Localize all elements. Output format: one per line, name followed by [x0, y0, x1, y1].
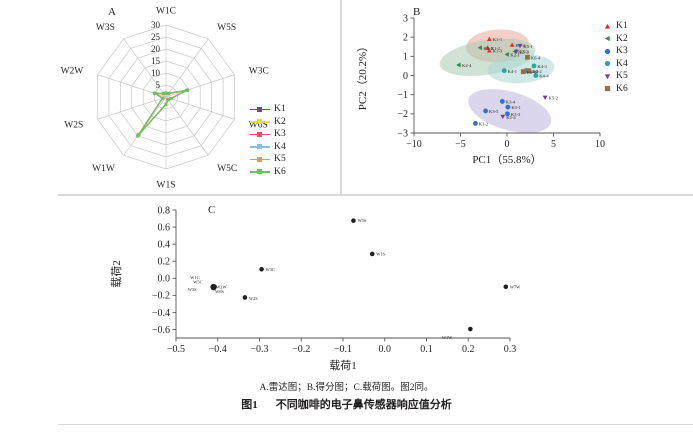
y-tick-label: −3: [397, 128, 408, 139]
y-tick-label: 1: [403, 52, 408, 63]
y-tick-label: 0.2: [158, 257, 171, 268]
radar-tick-label: 15: [151, 56, 161, 66]
radar-axis-label: W1S: [157, 180, 176, 190]
point-K3-2: [473, 121, 478, 126]
caption-note: A.雷达图；B.得分图；C.载荷图。图2同。: [0, 379, 693, 393]
point-K4-1: [502, 68, 507, 73]
legend-item-K5[interactable]: K5: [604, 70, 628, 83]
radar-point: [170, 97, 173, 100]
legend-label: K3: [616, 46, 628, 56]
radar-axis-label: W3S: [96, 23, 115, 33]
point-label-K4-4: K4-4: [539, 74, 549, 79]
y-axis-label: 载荷2: [110, 260, 123, 288]
point-label-W1S: W1S: [376, 251, 385, 256]
legend-item-K6[interactable]: K6: [250, 166, 286, 179]
x-tick-label: 0: [505, 139, 510, 150]
x-axis-label: 载荷1: [329, 359, 357, 372]
radar-point: [186, 88, 189, 91]
point-K4-3: [532, 64, 537, 69]
point-label-K6-4: K6-4: [531, 55, 541, 60]
panel-b-legend: K1K2K3K4K5K6: [604, 20, 628, 95]
legend-item-K3[interactable]: K3: [604, 45, 628, 58]
x-tick-label: −10: [406, 139, 422, 150]
y-tick-label: 0.6: [158, 222, 171, 233]
figure-root: A 51015202530W1CW5SW3CW6SW5CW1SW1WW2SW2W…: [0, 0, 693, 433]
y-tick-label: −2: [397, 109, 408, 120]
point-label-W2S: W2S: [249, 296, 258, 301]
legend-label: K1: [274, 104, 286, 114]
legend-item-K6[interactable]: K6: [604, 83, 628, 96]
panel-a-legend: K1K2K3K4K5K6: [250, 103, 286, 178]
radar-tick-label: 20: [151, 44, 161, 54]
radar-spoke: [166, 39, 208, 97]
y-tick-label: 3: [403, 13, 408, 24]
legend-label: K6: [616, 84, 628, 94]
point-label-W6S: W6S: [215, 289, 224, 294]
legend-label: K2: [274, 117, 286, 127]
radar-point: [167, 92, 170, 95]
radar-tick-labels: 51015202530: [151, 20, 161, 90]
cluster-ellipses: [437, 27, 556, 141]
x-tick-label: 0.3: [504, 344, 517, 355]
legend-glyph: [605, 86, 610, 91]
x-tick-label: −0.3: [250, 344, 268, 355]
point-label-K5-3: K5-3: [520, 50, 530, 55]
point-label-W1W: W1W: [442, 335, 453, 340]
point-label-K1-3: K1-3: [493, 49, 503, 54]
loading-plot: −0.5−0.4−0.3−0.2−0.10.00.10.20.30.80.60.…: [58, 196, 693, 374]
legend-marker-icon: [604, 73, 611, 80]
panel-c-letter: C: [208, 204, 215, 216]
y-tick-label: 0.8: [158, 205, 171, 216]
point-label-K3-4: K3-4: [506, 99, 516, 104]
point-K6-4: [525, 55, 530, 60]
pca-score-plot: −10−505103210−1−2−3PC1（55.8%）PC2（20.2%）K…: [342, 0, 693, 194]
x-tick-label: 0.1: [420, 344, 433, 355]
point-K3-5: [483, 109, 488, 114]
point-label-W3S: W3S: [188, 287, 197, 292]
legend-item-K5[interactable]: K5: [250, 153, 286, 166]
radar-point: [167, 98, 170, 101]
caption-number: 图1: [241, 399, 258, 411]
point-label-K2-4: K2-4: [462, 63, 472, 68]
legend-swatch-icon: [250, 154, 270, 164]
legend-glyph: [605, 24, 610, 29]
panel-b-letter: B: [413, 6, 420, 18]
radar-axis-label: W1C: [156, 6, 176, 16]
legend-item-K1[interactable]: K1: [604, 20, 628, 33]
y-tick-label: 2: [403, 33, 408, 44]
radar-point: [136, 135, 139, 138]
radar-point: [153, 92, 156, 95]
radar-tick-label: 25: [151, 32, 161, 42]
point-label-K5-4: K5-4: [506, 115, 516, 120]
caption-title: 图1不同咖啡的电子鼻传感器响应值分析: [0, 396, 693, 412]
legend-label: K6: [274, 167, 286, 177]
legend-item-K1[interactable]: K1: [250, 103, 286, 116]
legend-marker-icon: [604, 85, 611, 92]
y-tick-label: 0: [403, 71, 408, 82]
radar-tick-label: 30: [151, 20, 161, 30]
point-label-K2-2: K2-2: [483, 46, 493, 51]
legend-item-K2[interactable]: K2: [604, 33, 628, 46]
y-tick-label: −1: [397, 90, 408, 101]
x-tick-label: 0.2: [462, 344, 475, 355]
point-W2S: [243, 295, 248, 300]
radar-point: [161, 97, 164, 100]
point-label-K3-1: K3-1: [511, 105, 521, 110]
y-tick-label: 0.4: [158, 240, 171, 251]
point-cluster: [210, 284, 216, 290]
point-W1S: [370, 252, 375, 257]
x-tick-label: −0.5: [167, 344, 185, 355]
point-W7W: [504, 285, 509, 290]
point-label-W3C: W3C: [266, 267, 275, 272]
point-label-W5C: W5C: [193, 279, 202, 284]
x-tick-label: 5: [551, 139, 556, 150]
radar-tick-label: 5: [156, 80, 161, 90]
legend-label: K4: [274, 142, 286, 152]
legend-marker-icon: [604, 35, 611, 42]
x-axis-label: PC1（55.8%）: [472, 153, 541, 166]
legend-glyph: [605, 36, 610, 41]
point-label-K3-5: K3-5: [489, 109, 499, 114]
radar-axis-label: W5C: [217, 164, 237, 174]
point-label-K4-1: K4-1: [508, 69, 518, 74]
legend-marker-icon: [604, 60, 611, 67]
panel-b-scores: B −10−505103210−1−2−3PC1（55.8%）PC2（20.2%…: [341, 0, 693, 195]
point-label-K1-1: K1-1: [493, 37, 503, 42]
legend-swatch-icon: [250, 104, 270, 114]
legend-item-K3[interactable]: K3: [250, 128, 286, 141]
x-tick-label: −0.2: [292, 344, 310, 355]
legend-label: K4: [616, 59, 628, 69]
legend-glyph: [605, 74, 610, 79]
loading-points: W5SW1SW3CW7WW1CW5CW2WW3SW6SW2SW1W: [188, 218, 521, 340]
point-label-W7W: W7W: [510, 284, 521, 289]
y-tick-label: −0.2: [152, 291, 170, 302]
y-tick-label: −0.6: [152, 325, 170, 336]
legend-swatch-icon: [250, 142, 270, 152]
point-K3-1: [506, 105, 511, 110]
legend-item-K4[interactable]: K4: [604, 58, 628, 71]
point-W1W: [468, 327, 473, 332]
legend-label: K2: [616, 34, 628, 44]
radar-tick-label: 10: [151, 68, 161, 78]
x-tick-label: 10: [595, 139, 605, 150]
x-tick-label: −0.1: [334, 344, 352, 355]
x-tick-label: −5: [455, 139, 466, 150]
radar-grid: [98, 25, 235, 169]
point-K3-4: [500, 99, 505, 104]
radar-point: [165, 91, 168, 94]
point-W5S: [351, 218, 356, 223]
point-label-K5-2: K5-2: [549, 96, 559, 101]
panel-c-loadings: C −0.5−0.4−0.3−0.2−0.10.00.10.20.30.80.6…: [58, 195, 693, 374]
legend-label: K1: [616, 21, 628, 31]
radar-chart: 51015202530W1CW5SW3CW6SW5CW1SW1WW2SW2WW3…: [58, 0, 340, 194]
radar-axis-label: W2S: [64, 120, 83, 130]
legend-swatch-icon: [250, 167, 270, 177]
legend-swatch-icon: [250, 117, 270, 127]
legend-marker-icon: [604, 48, 611, 55]
legend-label: K5: [274, 154, 286, 164]
ellipse-K5: [463, 81, 556, 141]
legend-swatch-icon: [250, 129, 270, 139]
legend-glyph: [605, 61, 610, 66]
panel-a-letter: A: [108, 6, 116, 18]
radar-axis-label: W2W: [61, 67, 84, 77]
legend-item-K2[interactable]: K2: [250, 116, 286, 129]
y-tick-label: −0.4: [152, 308, 170, 319]
radar-point: [165, 103, 168, 106]
point-label-K3-2: K3-2: [479, 122, 489, 127]
panel-a-radar: A 51015202530W1CW5SW3CW6SW5CW1SW1WW2SW2W…: [58, 0, 341, 195]
x-tick-label: −0.4: [209, 344, 227, 355]
legend-glyph: [605, 49, 610, 54]
y-axis-label: PC2（20.2%）: [356, 41, 369, 110]
bottom-divider: [58, 424, 693, 425]
x-tick-label: 0.0: [379, 344, 392, 355]
radar-axis-label: W5S: [217, 23, 236, 33]
point-label-K5-1: K5-1: [523, 44, 533, 49]
point-label-W5S: W5S: [357, 218, 366, 223]
legend-item-K4[interactable]: K4: [250, 141, 286, 154]
point-K6-3: [521, 69, 526, 74]
radar-axis-label: W3C: [249, 67, 269, 77]
legend-marker-icon: [604, 23, 611, 30]
y-tick-label: 0.0: [158, 274, 171, 285]
radar-spoke: [166, 97, 208, 155]
radar-axis-label: W1W: [92, 164, 115, 174]
caption-title-text: 不同咖啡的电子鼻传感器响应值分析: [276, 399, 452, 411]
legend-label: K3: [274, 129, 286, 139]
point-K5-2: [543, 96, 548, 100]
radar-point: [162, 92, 165, 95]
point-label-K6-3: K6-3: [527, 70, 537, 75]
point-W3C: [259, 267, 264, 272]
loading-axes: −0.5−0.4−0.3−0.2−0.10.00.10.20.30.80.60.…: [152, 205, 516, 355]
legend-label: K5: [616, 71, 628, 81]
